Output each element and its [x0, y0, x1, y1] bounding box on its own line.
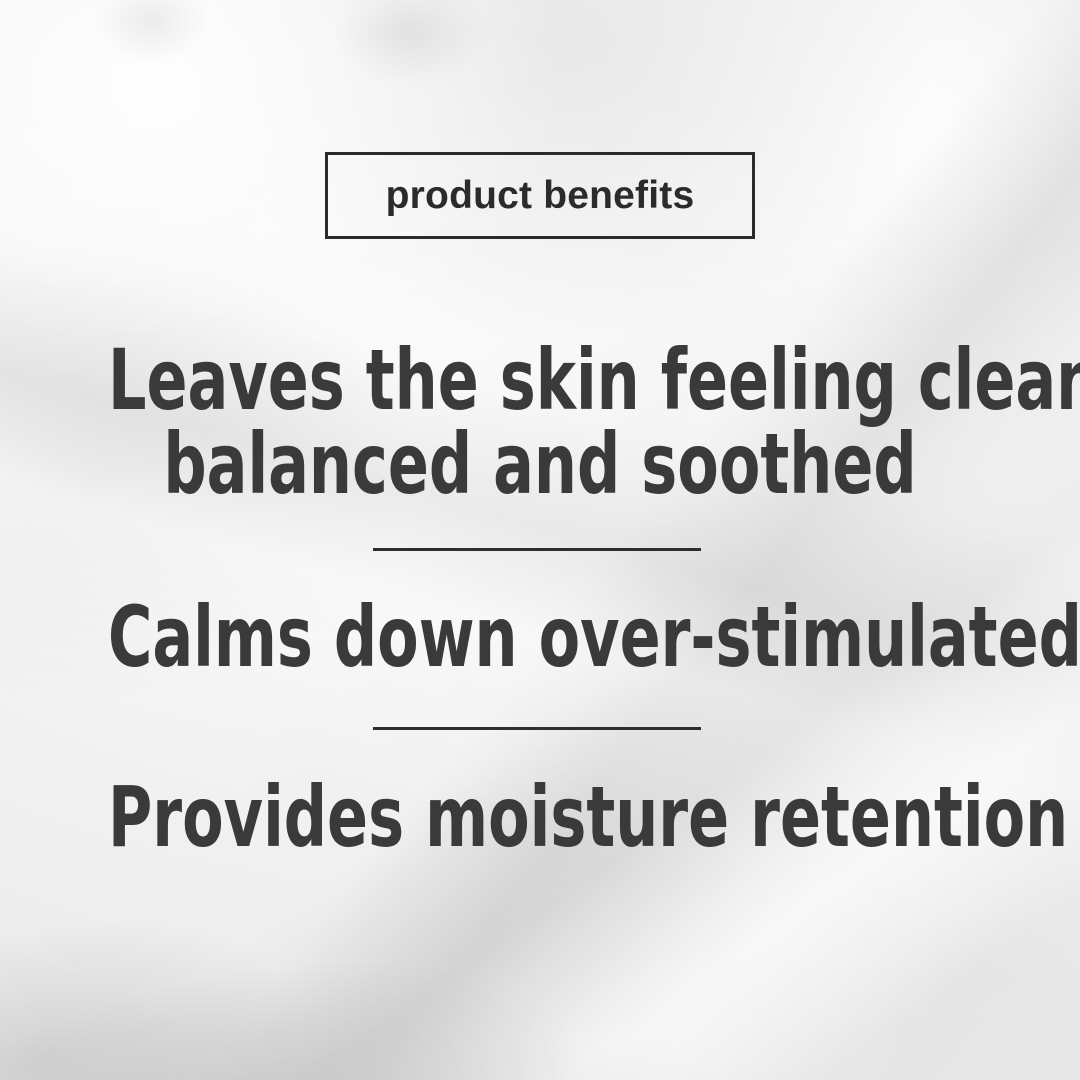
product-benefits-label-box: product benefits [325, 152, 755, 239]
benefit-item-2: Calms down over-stimulated skin [108, 598, 972, 678]
benefit-item-1: Leaves the skin feeling clean, balanced … [108, 338, 972, 506]
benefit-1-line-1: Leaves the skin feeling clean, [108, 338, 972, 422]
infographic-canvas: product benefits Leaves the skin feeling… [0, 0, 1080, 1080]
benefit-2-line-1: Calms down over-stimulated skin [108, 588, 1080, 686]
benefit-3-line-1: Provides moisture retention [108, 768, 1068, 866]
product-benefits-label: product benefits [386, 176, 695, 215]
benefit-item-3: Provides moisture retention [108, 778, 972, 858]
content-root: product benefits Leaves the skin feeling… [0, 0, 1080, 1080]
benefit-1-line-2: balanced and soothed [108, 422, 972, 506]
divider-1 [373, 548, 701, 551]
divider-2 [373, 727, 701, 730]
